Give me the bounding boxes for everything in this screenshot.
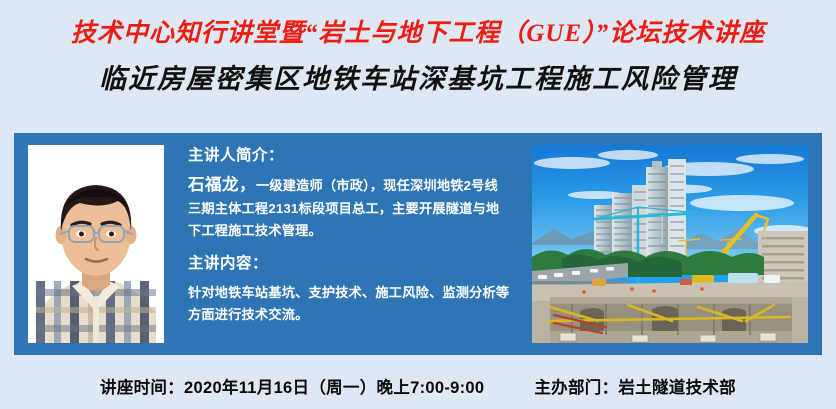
poster-footer: 讲座时间：2020年11月16日（周一）晚上7:00-9:00 主办部门：岩土隧…: [0, 362, 836, 409]
poster-header: 技术中心知行讲堂暨“岩土与地下工程（GUE）”论坛技术讲座 临近房屋密集区地铁车…: [0, 0, 836, 96]
portrait-illustration: [28, 145, 164, 343]
speaker-portrait-photo: [28, 145, 164, 343]
speaker-info: 主讲人简介： 石福龙，一级建造师（市政），现任深圳地铁2号线三期主体工程2131…: [188, 145, 510, 337]
bio-heading: 主讲人简介：: [188, 145, 510, 167]
lecture-time: 讲座时间：2020年11月16日（周一）晚上7:00-9:00: [100, 374, 484, 398]
topic-heading: 主讲内容：: [188, 253, 510, 275]
topic-body: 针对地铁车站基坑、支护技术、施工风险、监测分析等方面进行技术交流。: [188, 282, 510, 327]
page-title: 技术中心知行讲堂暨“岩土与地下工程（GUE）”论坛技术讲座: [0, 18, 836, 50]
construction-site-photo: [532, 145, 808, 343]
bio-body: 石福龙，一级建造师（市政），现任深圳地铁2号线三期主体工程2131标段项目总工，…: [188, 174, 510, 243]
page-subtitle: 临近房屋密集区地铁车站深基坑工程施工风险管理: [0, 62, 836, 96]
construction-site-illustration: [532, 145, 808, 343]
content-panel: 主讲人简介： 石福龙，一级建造师（市政），现任深圳地铁2号线三期主体工程2131…: [14, 133, 822, 355]
organizing-department: 主办部门：岩土隧道技术部: [534, 374, 736, 398]
speaker-name: 石福龙，: [188, 176, 256, 194]
